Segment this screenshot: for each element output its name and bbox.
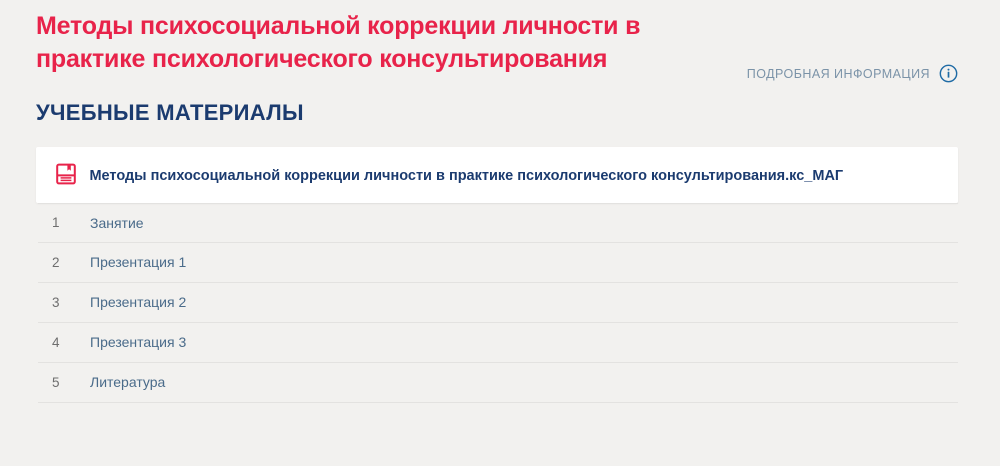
course-card-title: Методы психосоциальной коррекции личност…: [89, 168, 843, 184]
list-item[interactable]: 2 Презентация 1: [38, 243, 958, 283]
list-item-index: 5: [38, 375, 90, 390]
course-card[interactable]: Методы психосоциальной коррекции личност…: [36, 147, 958, 203]
list-item-label[interactable]: Презентация 2: [90, 294, 186, 310]
list-item[interactable]: 1 Занятие: [38, 203, 958, 243]
materials-list: 1 Занятие 2 Презентация 1 3 Презентация …: [38, 203, 958, 403]
list-item[interactable]: 5 Литература: [38, 363, 958, 403]
list-item-label[interactable]: Занятие: [90, 215, 144, 231]
list-item-label[interactable]: Литература: [90, 374, 165, 390]
list-item-index: 4: [38, 335, 90, 350]
course-card-inner: Методы психосоциальной коррекции личност…: [54, 161, 940, 191]
list-item-index: 3: [38, 295, 90, 310]
list-item[interactable]: 4 Презентация 3: [38, 323, 958, 363]
page-header: Методы психосоциальной коррекции личност…: [0, 0, 1000, 83]
info-circle-icon[interactable]: [939, 64, 958, 83]
section-heading: УЧЕБНЫЕ МАТЕРИАЛЫ: [36, 100, 1000, 126]
list-item-index: 2: [38, 255, 90, 270]
book-icon: [54, 167, 89, 184]
list-item[interactable]: 3 Презентация 2: [38, 283, 958, 323]
details-info-label: ПОДРОБНАЯ ИНФОРМАЦИЯ: [747, 67, 930, 81]
page-title: Методы психосоциальной коррекции личност…: [36, 10, 736, 76]
details-info-link[interactable]: ПОДРОБНАЯ ИНФОРМАЦИЯ: [747, 10, 980, 83]
list-item-index: 1: [38, 215, 90, 230]
list-item-label[interactable]: Презентация 3: [90, 334, 186, 350]
list-item-label[interactable]: Презентация 1: [90, 254, 186, 270]
